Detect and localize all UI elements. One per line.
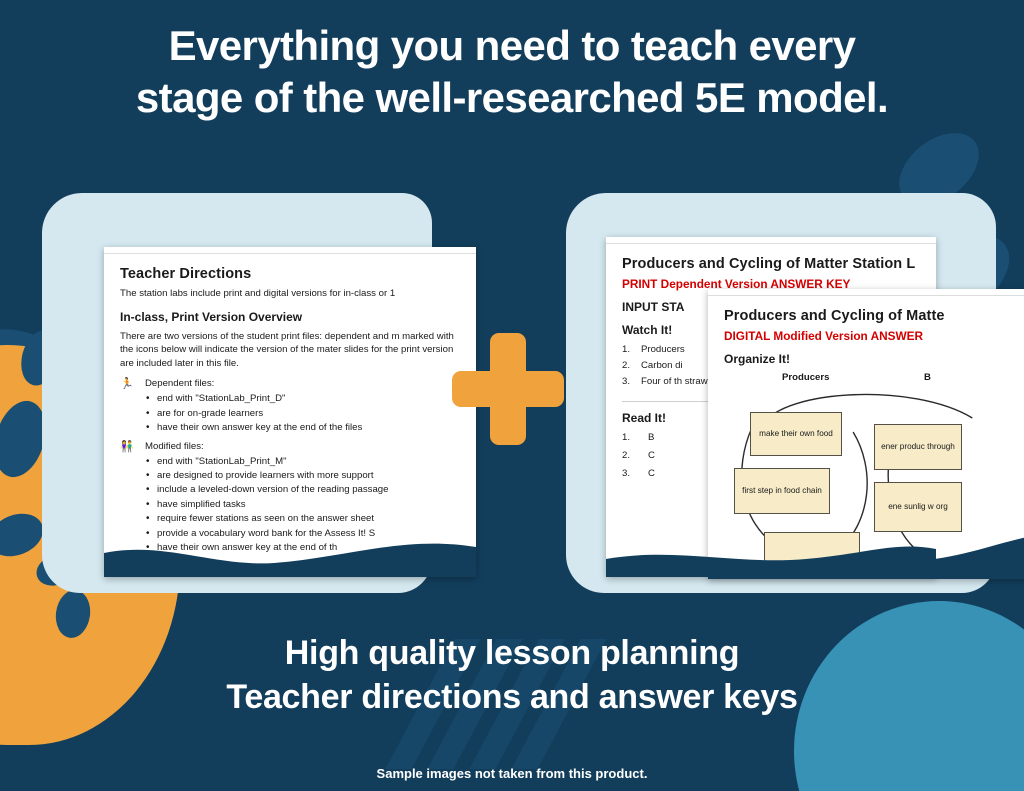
footer-line-1: High quality lesson planning — [0, 632, 1024, 676]
document-top-rule — [104, 247, 476, 254]
document-top-rule — [708, 289, 1024, 296]
list-item: end with "StationLab_Print_D" — [146, 392, 460, 406]
people-support-icon: 👫 — [120, 441, 137, 453]
disclaimer-text: Sample images not taken from this produc… — [0, 766, 1024, 781]
dependent-files-label: Dependent files: — [145, 378, 214, 389]
digital-answer-key-body: Producers and Cycling of Matte DIGITAL M… — [708, 296, 1024, 562]
diagram-box — [764, 532, 860, 566]
list-item: are for on-grade learners — [146, 407, 460, 421]
list-item: are designed to provide learners with mo… — [146, 469, 460, 483]
document-stage: Teacher Directions The station labs incl… — [0, 185, 1024, 605]
digital-answer-key-document[interactable]: Producers and Cycling of Matte DIGITAL M… — [708, 289, 1024, 579]
document-top-rule — [606, 237, 936, 244]
list-item: have their own answer key at the end of … — [146, 421, 460, 435]
footer-line-2: Teacher directions and answer keys — [0, 676, 1024, 720]
list-item: 🏃 Dependent files: end with "StationLab_… — [120, 378, 460, 435]
modified-files-label: Modified files: — [145, 441, 204, 452]
teacher-directions-title: Teacher Directions — [120, 266, 460, 282]
modified-files-bullets: end with "StationLab_Print_M" are design… — [146, 455, 460, 556]
diagram-label-producers: Producers — [782, 372, 829, 383]
diagram-box: first step in food chain — [734, 468, 830, 514]
list-item: provide a vocabulary word bank for the A… — [146, 527, 460, 541]
diagram-box: make their own food — [750, 412, 842, 456]
dependent-files-bullets: end with "StationLab_Print_D" are for on… — [146, 392, 460, 435]
print-overview-paragraph: There are two versions of the student pr… — [120, 330, 460, 371]
organize-it-heading: Organize It! — [724, 352, 1022, 366]
print-overview-heading: In-class, Print Version Overview — [120, 310, 460, 324]
digital-answer-key-subtitle: DIGITAL Modified Version ANSWER — [724, 329, 1022, 343]
list-item: 👫 Modified files: end with "StationLab_P… — [120, 441, 460, 556]
digital-answer-key-title: Producers and Cycling of Matte — [724, 308, 1022, 324]
headline-line-1: Everything you need to teach every — [28, 20, 996, 72]
organize-it-diagram: Producers B make their own food first st… — [724, 372, 1022, 562]
headline-line-2: stage of the well-researched 5E model. — [28, 72, 996, 124]
diagram-box: ene sunlig w org — [874, 482, 962, 532]
list-item: include a leveled-down version of the re… — [146, 483, 460, 497]
teacher-directions-body: Teacher Directions The station labs incl… — [104, 254, 476, 555]
print-answer-key-title: Producers and Cycling of Matter Station … — [622, 256, 920, 272]
list-item: have their own answer key at the end of … — [146, 541, 460, 555]
teacher-directions-intro: The station labs include print and digit… — [120, 287, 460, 301]
running-people-icon: 🏃 — [120, 378, 137, 390]
list-item: require fewer stations as seen on the an… — [146, 512, 460, 526]
headline: Everything you need to teach every stage… — [0, 20, 1024, 124]
diagram-label-b: B — [924, 372, 931, 383]
teacher-directions-document[interactable]: Teacher Directions The station labs incl… — [104, 247, 476, 577]
plus-sign-icon — [452, 333, 564, 445]
diagram-box: ener produc through — [874, 424, 962, 470]
list-item: have simplified tasks — [146, 498, 460, 512]
footer-headline: High quality lesson planning Teacher dir… — [0, 632, 1024, 719]
file-type-list: 🏃 Dependent files: end with "StationLab_… — [120, 378, 460, 555]
list-item: end with "StationLab_Print_M" — [146, 455, 460, 469]
